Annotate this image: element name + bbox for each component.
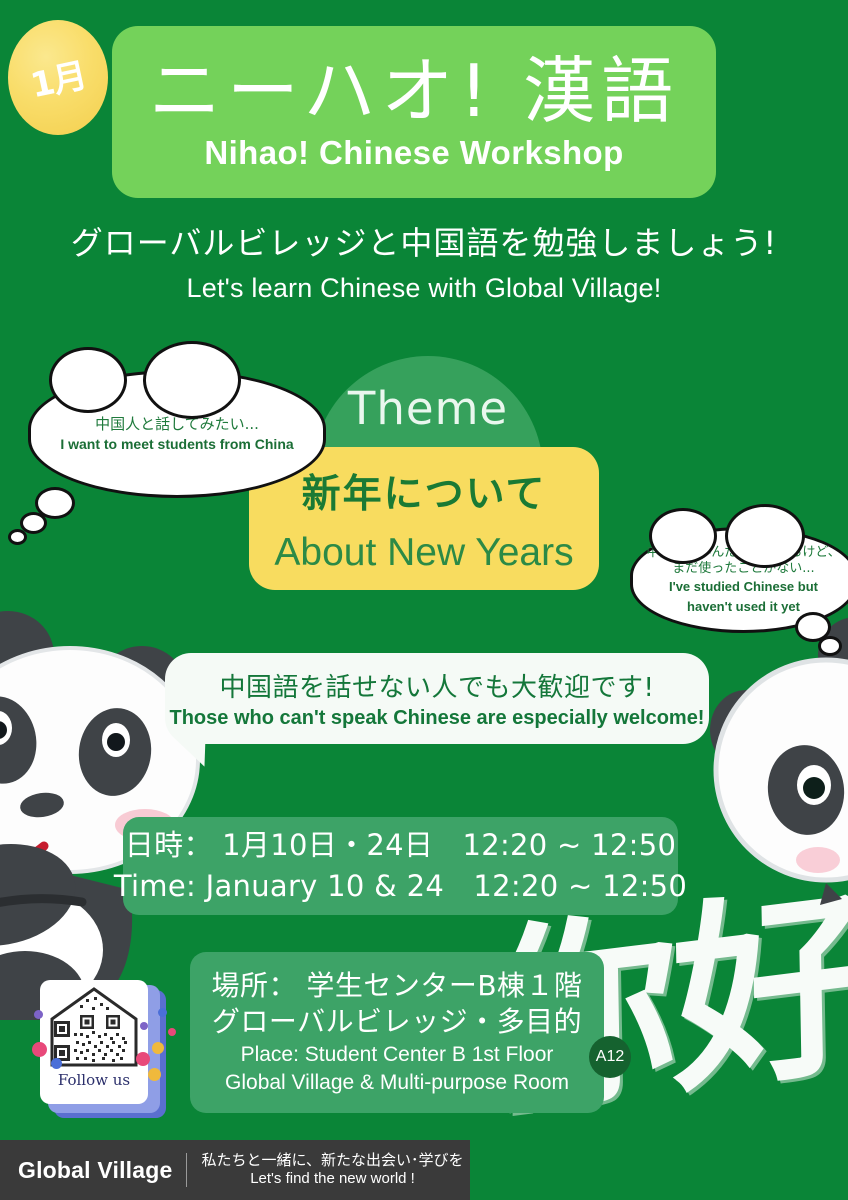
room-badge: A12 <box>589 1036 631 1078</box>
qr-card-front[interactable]: Follow us <box>40 980 148 1104</box>
time-japanese: 日時： 1月10日・24日 12:20 ~ 12:50 <box>125 825 676 866</box>
poster-root: 你好 <box>0 0 848 1200</box>
reaction-heart-icon-2 <box>136 1052 150 1066</box>
footer-divider <box>186 1153 187 1187</box>
header-title-box: ニーハオ! 漢語 Nihao! Chinese Workshop <box>112 26 716 198</box>
subtitle-english: Let's learn Chinese with Global Village! <box>0 273 848 304</box>
theme-label: Theme <box>313 382 543 435</box>
thought-left-tail-dot-3 <box>8 529 27 545</box>
place-japanese-line1: 場所： 学生センターB棟１階 <box>211 968 582 1004</box>
footer-brand: Global Village <box>0 1157 172 1184</box>
thought-left-japanese: 中国人と話してみたい... <box>95 415 259 433</box>
reaction-smile-icon <box>152 1042 164 1054</box>
thought-bubble-left-body: 中国人と話してみたい... I want to meet students fr… <box>28 370 326 498</box>
thought-bubble-left: 中国人と話してみたい... I want to meet students fr… <box>28 370 326 498</box>
footer-bar: Global Village 私たちと一緒に、新たな出会い･学びを Let's … <box>0 1140 470 1200</box>
place-info-box: 場所： 学生センターB棟１階 グローバルビレッジ・多目的 Place: Stud… <box>190 952 604 1113</box>
time-english: Time: January 10 & 24 12:20 ~ 12:50 <box>114 866 687 907</box>
theme-topic-english: About New Years <box>274 531 573 575</box>
reaction-dot-icon-4 <box>140 1022 148 1030</box>
reaction-heart-icon <box>32 1042 47 1057</box>
reaction-like-icon <box>51 1058 62 1069</box>
thought-right-english-line2: haven't used it yet <box>687 599 800 615</box>
reaction-laugh-icon <box>148 1068 161 1081</box>
speech-japanese: 中国語を話せない人でも大歓迎です! <box>220 667 655 704</box>
footer-tagline-japanese: 私たちと一緒に、新たな出会い･学びを <box>201 1151 463 1170</box>
qr-follow-card[interactable]: Follow us <box>40 980 170 1120</box>
thought-left-english: I want to meet students from China <box>60 436 293 454</box>
title-japanese: ニーハオ! 漢語 <box>149 54 679 130</box>
title-english: Nihao! Chinese Workshop <box>204 134 623 172</box>
month-badge-label: 1月 <box>26 48 91 108</box>
qr-follow-label: Follow us <box>58 1071 130 1089</box>
subtitle-block: グローバルビレッジと中国語を勉強しましょう! Let's learn Chine… <box>0 222 848 304</box>
theme-topic-japanese: 新年について <box>302 463 547 519</box>
footer-tagline-english: Let's find the new world ! <box>250 1170 415 1189</box>
time-info-box: 日時： 1月10日・24日 12:20 ~ 12:50 Time: Januar… <box>123 817 678 915</box>
thought-right-japanese-line2: まだ使ったことがない... <box>672 561 814 577</box>
thought-right-japanese-line1: 中国語を学んだことがあるけど、 <box>646 545 840 561</box>
reaction-dot-icon-1 <box>34 1010 43 1019</box>
reaction-dot-icon-3 <box>168 1028 176 1036</box>
qr-code-icon <box>46 985 142 1069</box>
thought-right-english-line1: I've studied Chinese but <box>669 579 818 595</box>
place-english-line2: Global Village & Multi-purpose Room <box>225 1069 569 1097</box>
subtitle-japanese: グローバルビレッジと中国語を勉強しましょう! <box>0 222 848 265</box>
footer-tagline: 私たちと一緒に、新たな出会い･学びを Let's find the new wo… <box>201 1151 463 1189</box>
speech-bubble-center: 中国語を話せない人でも大歓迎です! Those who can't speak … <box>165 653 709 744</box>
place-english-line1: Place: Student Center B 1st Floor <box>241 1041 554 1069</box>
speech-english: Those who can't speak Chinese are especi… <box>170 707 705 730</box>
month-badge: 1月 <box>8 20 108 135</box>
thought-right-tail-dot-2 <box>818 636 842 656</box>
reaction-dot-icon-2 <box>158 1008 167 1017</box>
place-japanese-line2: グローバルビレッジ・多目的 <box>212 1004 582 1040</box>
